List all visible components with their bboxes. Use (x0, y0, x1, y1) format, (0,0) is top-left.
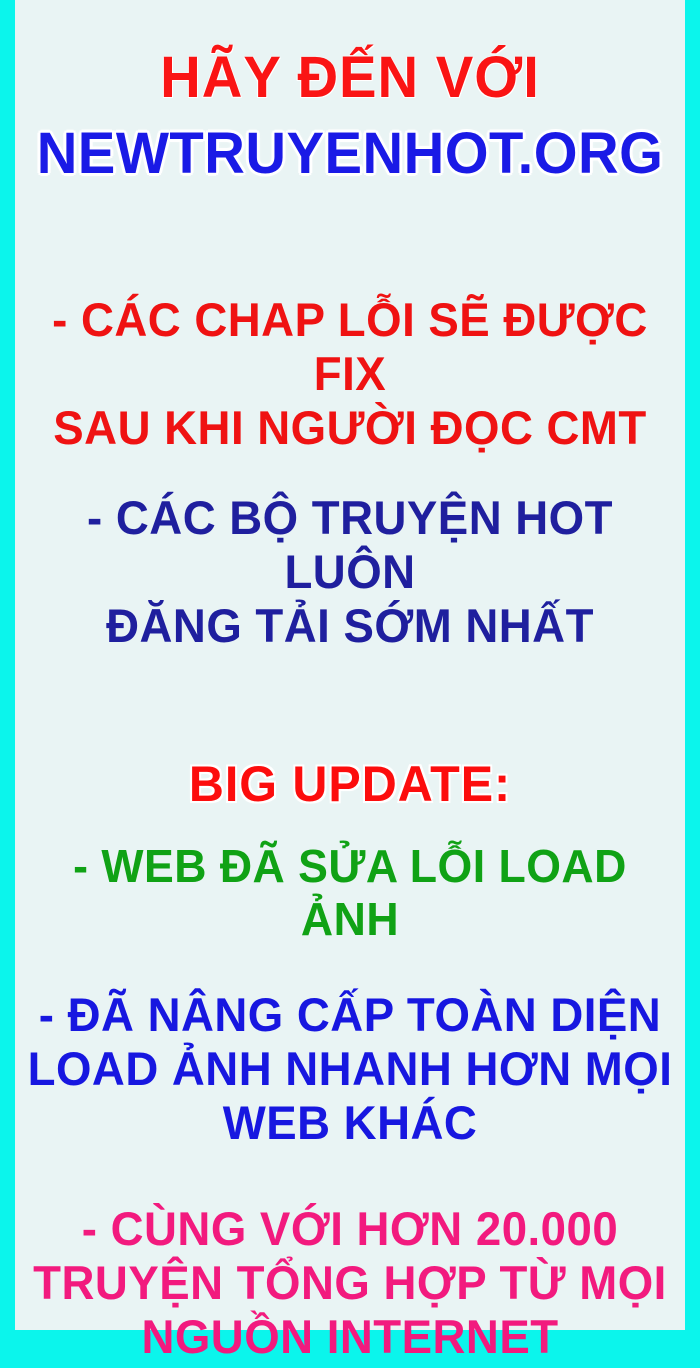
headline-invite-text: HÃY ĐẾN VỚI (25, 48, 675, 108)
notice-hot-series: - CÁC BỘ TRUYỆN HOT LUÔN ĐĂNG TẢI SỚM NH… (25, 491, 675, 653)
banner-page: HÃY ĐẾN VỚI NEWTRUYENHOT.ORG - CÁC CHAP … (15, 0, 685, 1330)
cyan-rail-right (685, 0, 700, 1330)
update-item-image-load-fix: - WEB ĐÃ SỬA LỖI LOAD ẢNH (25, 840, 675, 946)
update-item-library-size: - CÙNG VỚI HƠN 20.000 TRUYỆN TỔNG HỢP TỪ… (25, 1202, 675, 1364)
announcement-banner: HÃY ĐẾN VỚI NEWTRUYENHOT.ORG - CÁC CHAP … (0, 0, 700, 1368)
big-update-heading: BIG UPDATE: (25, 758, 675, 810)
cyan-rail-left (0, 0, 15, 1330)
site-domain-text[interactable]: NEWTRUYENHOT.ORG (25, 124, 675, 184)
notice-fix-chapters: - CÁC CHAP LỖI SẼ ĐƯỢC FIX SAU KHI NGƯỜI… (25, 293, 675, 455)
update-item-full-upgrade: - ĐÃ NÂNG CẤP TOÀN DIỆN LOAD ẢNH NHANH H… (25, 988, 675, 1150)
